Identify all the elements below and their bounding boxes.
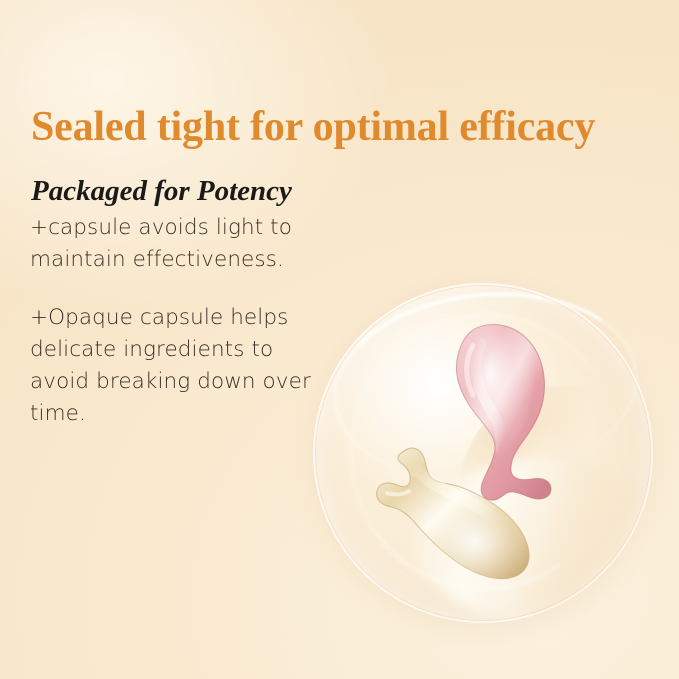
benefit-bullet-1-text: +capsule avoids light to maintain effect…	[30, 212, 330, 276]
benefit-bullet-2-text: +Opaque capsule helps delicate ingredien…	[30, 302, 330, 430]
capsule-bubble-graphic	[313, 283, 653, 623]
page-title: Sealed tight for optimal efficacy	[31, 103, 661, 151]
benefit-bullet-2: +Opaque capsule helps delicate ingredien…	[30, 302, 330, 430]
product-infographic-panel: Sealed tight for optimal efficacy Packag…	[0, 0, 679, 679]
benefit-bullet-1: +capsule avoids light to maintain effect…	[30, 212, 330, 276]
bubble-rim-highlight	[313, 283, 653, 623]
page-subtitle: Packaged for Potency	[31, 174, 292, 208]
